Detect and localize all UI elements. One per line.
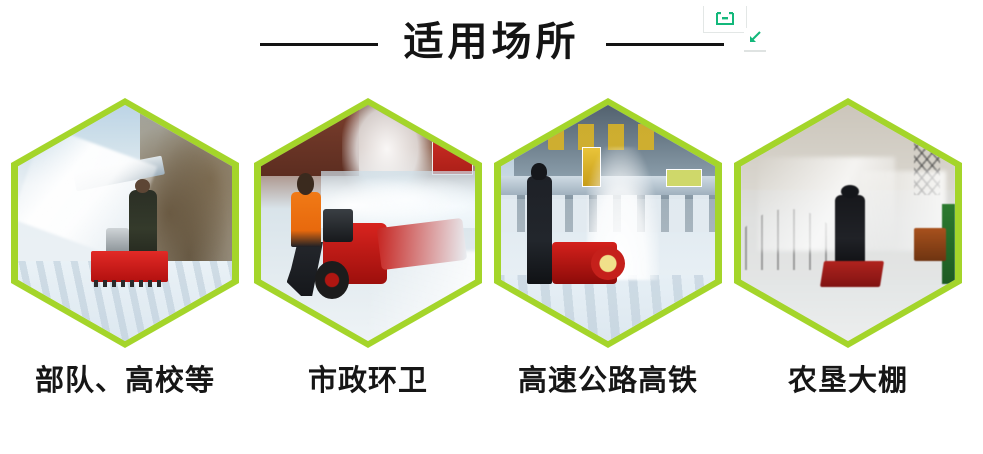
photo-sweeper-engine <box>323 209 353 242</box>
title-row: 适用场所 <box>0 14 983 74</box>
editor-toolbar-icon <box>715 12 735 26</box>
hex-photo-clip-3 <box>741 105 955 341</box>
collapse-widget-button[interactable] <box>744 28 766 52</box>
scenario-caption-0: 部队、高校等 <box>11 360 239 400</box>
scenario-photo-3 <box>741 105 955 341</box>
collapse-arrow-icon <box>748 30 762 44</box>
photo-operator <box>835 195 865 266</box>
editor-toolbar-widget[interactable] <box>703 6 747 33</box>
photo-green-sign <box>666 169 702 188</box>
photo-snow-field <box>741 280 955 341</box>
title-rule-right <box>606 43 724 46</box>
photo-worker-vest <box>291 192 321 246</box>
scenario-item-0[interactable] <box>11 98 239 348</box>
hex-photo-clip-1 <box>261 105 475 341</box>
title-rule-left <box>260 43 378 46</box>
scenario-item-2[interactable] <box>494 98 722 348</box>
hex-photo-clip-0 <box>18 105 232 341</box>
photo-snow-thrower <box>91 251 168 282</box>
page-title: 适用场所 <box>404 22 580 62</box>
photo-snow-blade <box>820 261 884 287</box>
photo-sweeper-wheel <box>315 261 349 299</box>
photo-snow-road <box>501 275 715 341</box>
scenario-photo-2 <box>501 105 715 341</box>
scenario-photo-1 <box>261 105 475 341</box>
page-header: 适用场所 <box>0 0 983 92</box>
photo-second-machine <box>914 228 946 261</box>
photo-operator <box>129 190 157 261</box>
photo-operator <box>527 176 553 285</box>
scenario-photo-0 <box>18 105 232 341</box>
caption-row: 部队、高校等 市政环卫 高速公路高铁 农垦大棚 <box>0 360 983 420</box>
hex-photo-clip-2 <box>501 105 715 341</box>
scenario-item-3[interactable] <box>734 98 962 348</box>
scenario-gallery <box>0 98 983 348</box>
photo-auger <box>591 247 625 280</box>
scenario-caption-2: 高速公路高铁 <box>488 360 728 400</box>
scenario-item-1[interactable] <box>254 98 482 348</box>
scenario-caption-3: 农垦大棚 <box>734 360 962 400</box>
scenario-caption-1: 市政环卫 <box>254 360 482 400</box>
